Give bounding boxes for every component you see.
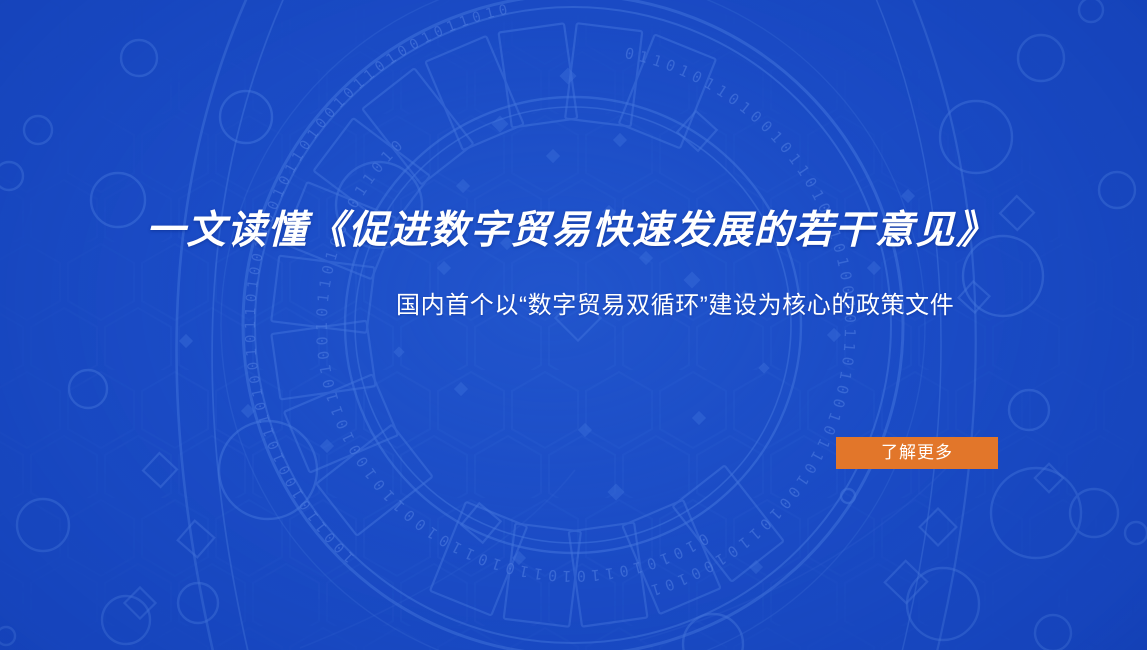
page-title: 一文读懂《促进数字贸易快速发展的若干意见》: [146, 206, 1016, 256]
learn-more-button[interactable]: 了解更多: [836, 437, 998, 469]
page-subtitle: 国内首个以“数字贸易双循环”建设为核心的政策文件: [396, 289, 1002, 323]
banner-content: 一文读懂《促进数字贸易快速发展的若干意见》 国内首个以“数字贸易双循环”建设为核…: [0, 0, 1147, 650]
promo-banner: 0110101101001011010110100101101001011010…: [0, 0, 1147, 650]
